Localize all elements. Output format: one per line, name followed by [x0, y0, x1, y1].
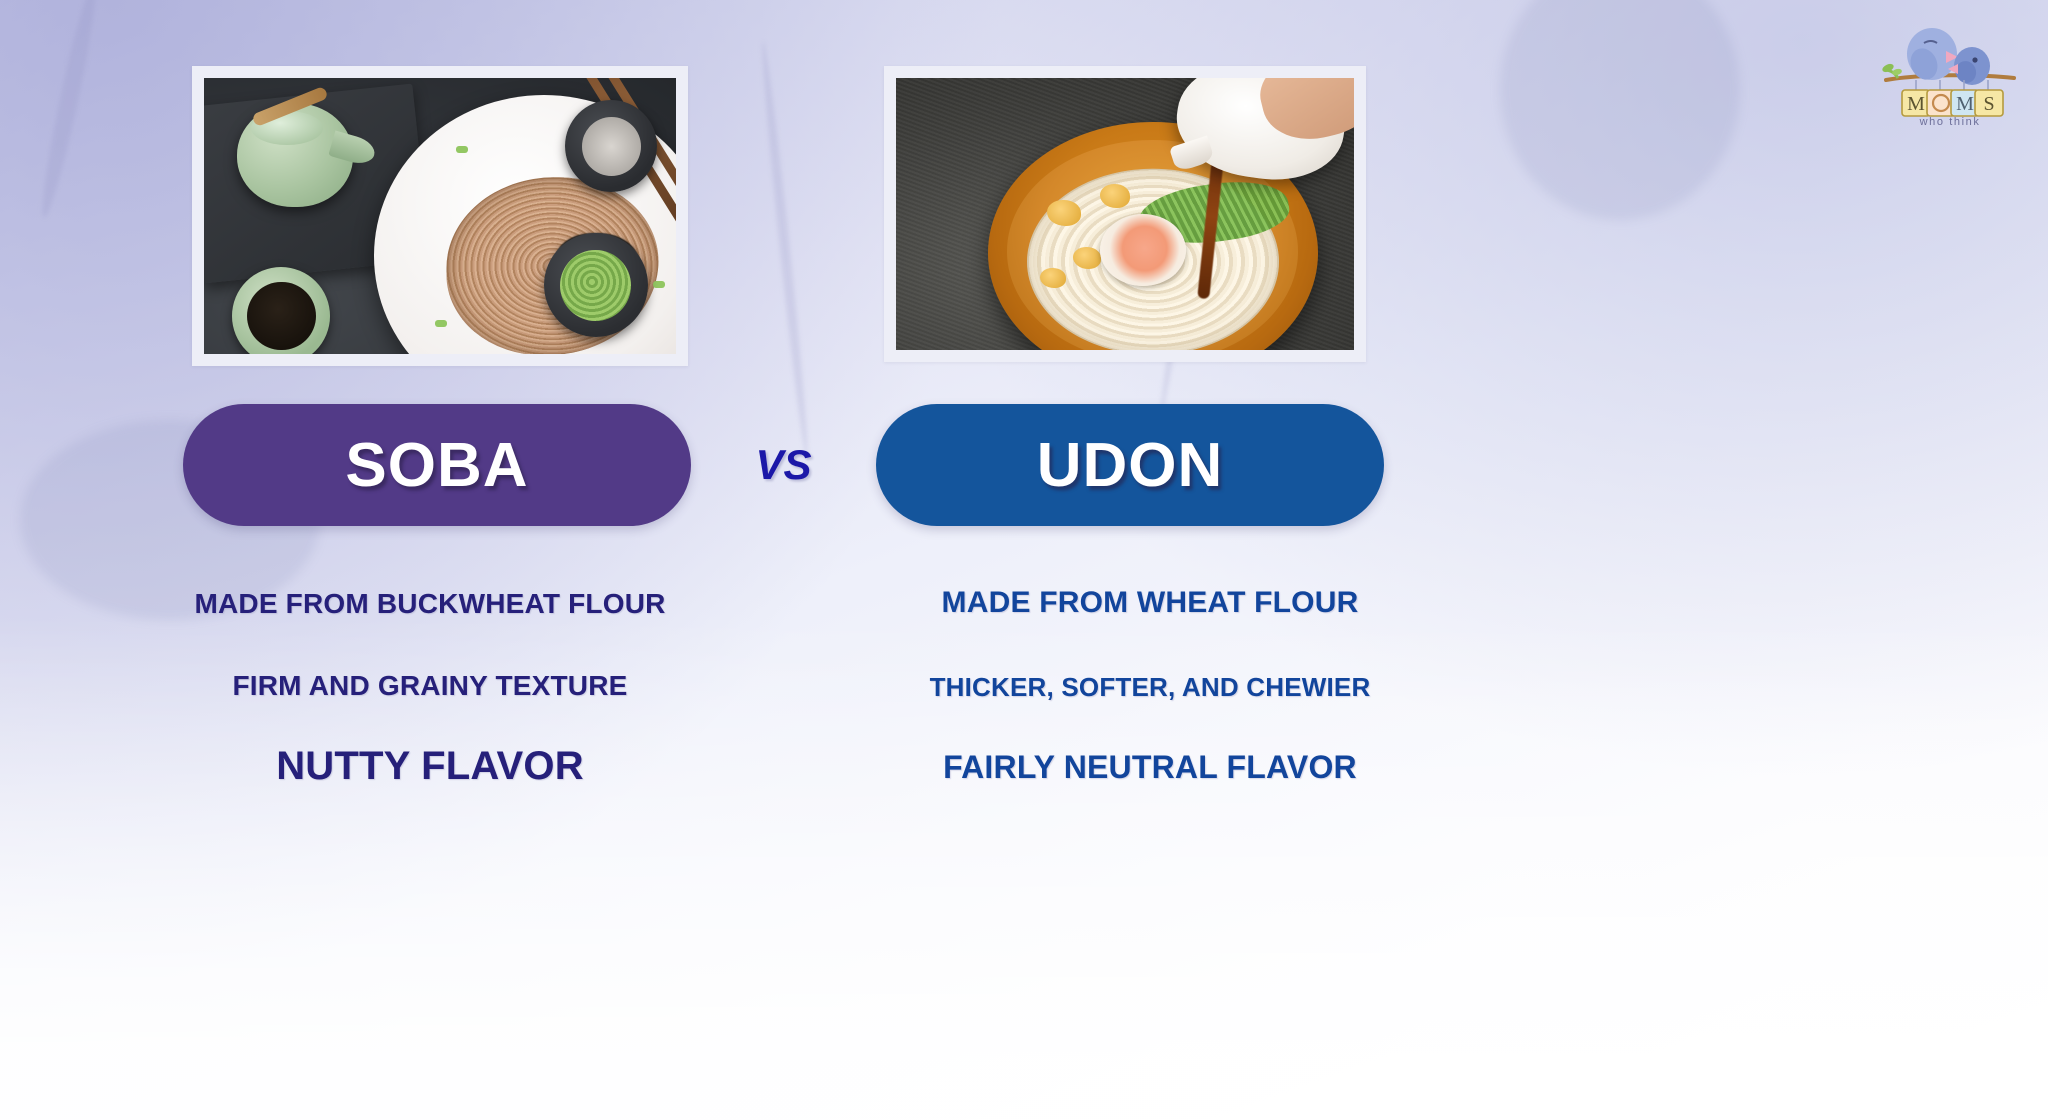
- svg-text:M: M: [1956, 93, 1974, 115]
- svg-text:M: M: [1907, 93, 1925, 115]
- udon-noodles-photo: [896, 78, 1354, 350]
- soba-feature-3: NUTTY FLAVOR: [150, 744, 710, 789]
- soba-feature-1: MADE FROM BUCKWHEAT FLOUR: [150, 588, 710, 620]
- soba-photo-card: [192, 66, 688, 366]
- brand-tagline: who think: [1880, 116, 2020, 128]
- side-bowl-scallions: [544, 233, 648, 337]
- udon-feature-list: MADE FROM WHEAT FLOUR THICKER, SOFTER, A…: [840, 570, 1460, 786]
- soba-noodles-photo: [204, 78, 676, 354]
- udon-badge[interactable]: UDON: [876, 404, 1384, 526]
- two-birds-on-branch-logo: M M S: [1880, 18, 2020, 118]
- tempura-bit: [1047, 200, 1081, 226]
- brand-logo[interactable]: M M S who think: [1880, 18, 2020, 136]
- udon-photo-card: [884, 66, 1366, 362]
- versus-label: VS: [755, 441, 811, 489]
- tempura-bit: [1040, 268, 1066, 288]
- poached-egg: [1100, 214, 1186, 286]
- soba-feature-2: FIRM AND GRAINY TEXTURE: [150, 670, 710, 702]
- scallion-bit: [653, 281, 665, 288]
- versus-separator: VS: [691, 404, 876, 526]
- side-bowl-seaweed: [565, 100, 657, 192]
- soba-badge[interactable]: SOBA: [183, 404, 691, 526]
- scallion-bit: [435, 320, 447, 327]
- svg-text:S: S: [1983, 93, 1994, 115]
- soba-feature-list: MADE FROM BUCKWHEAT FLOUR FIRM AND GRAIN…: [150, 570, 710, 789]
- udon-feature-3: FAIRLY NEUTRAL FLAVOR: [840, 749, 1460, 786]
- scallion-bit: [456, 146, 468, 153]
- udon-feature-1: MADE FROM WHEAT FLOUR: [840, 586, 1460, 620]
- soba-badge-label: SOBA: [345, 430, 528, 501]
- tempura-bit: [1073, 247, 1101, 269]
- udon-feature-2: THICKER, SOFTER, AND CHEWIER: [840, 672, 1460, 703]
- udon-badge-label: UDON: [1037, 430, 1224, 501]
